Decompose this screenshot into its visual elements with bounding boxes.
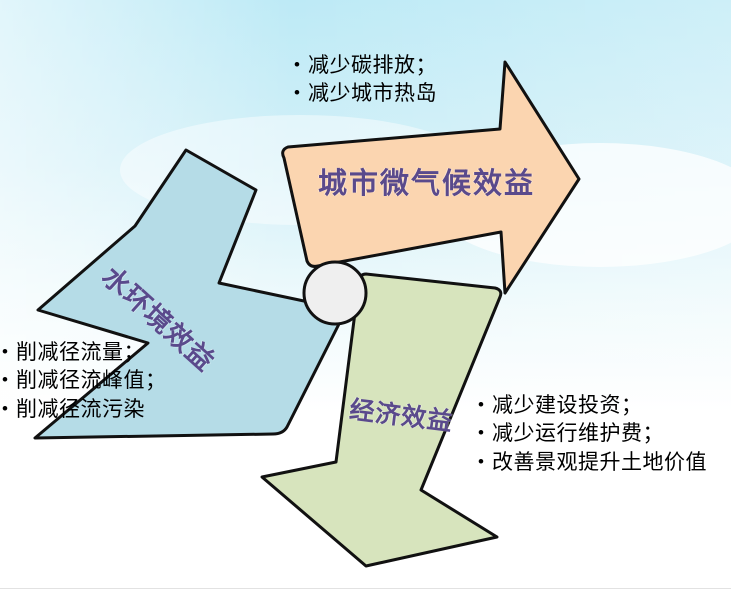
note-economy-line-2: 减少运行维护费； (478, 420, 707, 448)
note-economy-line-1: 减少建设投资； (478, 392, 707, 420)
note-climate-line-1: 减少碳排放； (294, 52, 437, 80)
center-circle[interactable] (304, 262, 366, 324)
note-water-line-1: 削减径流量； (2, 339, 167, 367)
note-water-line-3: 削减径流污染 (2, 396, 167, 424)
arrow-label-climate: 城市微气候效益 (318, 160, 535, 202)
figure-canvas: 减少碳排放； 减少城市热岛 削减径流量； 削减径流峰值； 削减径流污染 减少建设… (0, 0, 731, 589)
note-climate-line-2: 减少城市热岛 (294, 80, 437, 108)
note-economy-line-3: 改善景观提升土地价值 (478, 449, 707, 477)
note-water: 削减径流量； 削减径流峰值； 削减径流污染 (2, 339, 167, 424)
note-climate: 减少碳排放； 减少城市热岛 (294, 52, 437, 109)
note-economy: 减少建设投资； 减少运行维护费； 改善景观提升土地价值 (478, 392, 707, 477)
note-water-line-2: 削减径流峰值； (2, 367, 167, 395)
